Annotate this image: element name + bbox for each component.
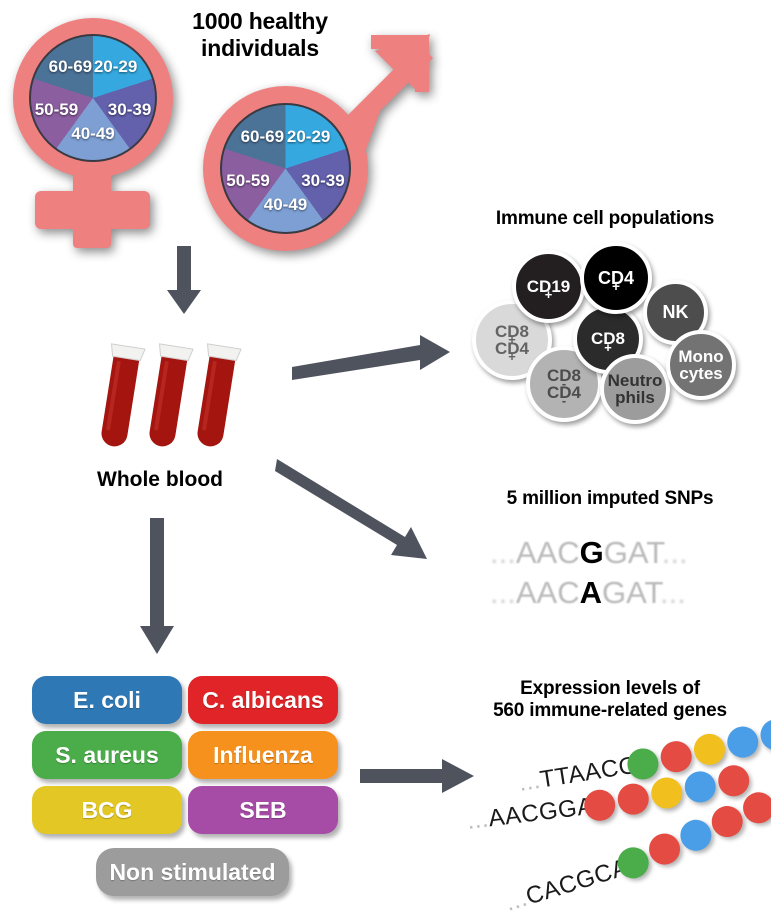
arrow-blood-to-stimulation — [134, 518, 180, 658]
snp-post-1: GAT — [604, 535, 662, 570]
arrow-blood-to-immune — [292, 330, 452, 390]
cell-cd19pos: CD19+ — [512, 250, 585, 323]
cell-label-cd8neg-cd4neg-line1: CD8- — [547, 367, 581, 384]
snp-lead-1: ... — [490, 535, 516, 570]
stimulation-label-e-coli: E. coli — [73, 687, 141, 714]
snp-tail-2: ... — [660, 575, 686, 610]
female-symbol: 20-2930-3940-4950-5960-69 — [10, 18, 185, 248]
stimulation-label-bcg: BCG — [81, 797, 132, 824]
snp-tail-1: ... — [662, 535, 688, 570]
pie-label-20-29: 20-29 — [94, 57, 137, 77]
female-stem-cross — [35, 191, 150, 229]
snp-variant-1: G — [580, 535, 604, 570]
pie-label-60-69: 60-69 — [49, 57, 92, 77]
bead-1-2 — [658, 739, 693, 774]
arrow-stimulation-to-expression — [360, 757, 480, 797]
pie-label-50-59: 50-59 — [226, 171, 269, 191]
whole-blood-tubes — [95, 338, 275, 468]
stimulation-box-e-coli[interactable]: E. coli — [32, 676, 182, 724]
cell-label-cd8pos-cd4pos-line1: CD8+ — [495, 323, 529, 340]
stimulation-label-seb: SEB — [239, 797, 286, 824]
pie-label-20-29: 20-29 — [287, 127, 330, 147]
figure-canvas: 1000 healthy individuals 20-2930-3940-49… — [0, 0, 771, 922]
expression-title-line-1: Expression levels of — [450, 678, 770, 700]
cell-label-cd8neg-cd4neg-line2: CD4- — [547, 384, 581, 401]
snp-sequence-row-1: ...AACGGAT... — [490, 535, 688, 571]
female-age-pie: 20-2930-3940-4950-5960-69 — [29, 34, 157, 162]
stimulation-box-s-aureus[interactable]: S. aureus — [32, 731, 182, 779]
stimulation-box-bcg[interactable]: BCG — [32, 786, 182, 834]
male-symbol: 20-2930-3940-4950-5960-69 — [195, 22, 425, 252]
stimulation-box-c-albicans[interactable]: C. albicans — [188, 676, 338, 724]
snps-title: 5 million imputed SNPs — [450, 488, 770, 510]
stimulation-box-influenza[interactable]: Influenza — [188, 731, 338, 779]
cell-label-cd8pos-cd4pos-line2: CD4+ — [495, 340, 529, 357]
stimulation-box-seb[interactable]: SEB — [188, 786, 338, 834]
pie-label-60-69: 60-69 — [241, 127, 284, 147]
cell-cd4pos: CD4+ — [580, 242, 652, 314]
pie-label-40-49: 40-49 — [71, 124, 114, 144]
cell-monocytes: Mono cytes — [666, 330, 736, 400]
stimulation-label-non-stimulated: Non stimulated — [109, 859, 275, 886]
pie-label-30-39: 30-39 — [301, 171, 344, 191]
cell-label-neutrophils-line2: phils — [608, 389, 663, 406]
arrow-cohort-to-blood — [161, 246, 207, 316]
immune-cell-cluster: CD8+ CD4+ CD19+ CD8- CD4- CD8+ CD4+ Neut… — [460, 238, 760, 423]
cell-label-nk: NK — [663, 303, 689, 321]
cell-neutrophils: Neutro phils — [600, 354, 670, 424]
expression-title: Expression levels of 560 immune-related … — [450, 678, 770, 723]
cell-label-neutrophils-line1: Neutro — [608, 372, 663, 389]
stimulation-label-c-albicans: C. albicans — [202, 687, 323, 714]
arrow-blood-to-snps — [275, 445, 445, 565]
snp-variant-2: A — [580, 575, 602, 610]
pie-label-50-59: 50-59 — [35, 100, 78, 120]
stimulation-box-non-stimulated[interactable]: Non stimulated — [96, 848, 289, 896]
snp-lead-2: ... — [490, 575, 516, 610]
bead-3-2 — [645, 830, 684, 869]
pie-label-30-39: 30-39 — [108, 100, 151, 120]
cell-label-monocytes-line2: cytes — [678, 365, 723, 382]
snp-pre-1: AAC — [516, 535, 580, 570]
whole-blood-label: Whole blood — [60, 468, 260, 492]
stimulation-label-influenza: Influenza — [213, 742, 313, 769]
snp-post-2: GAT — [602, 575, 660, 610]
pie-label-40-49: 40-49 — [264, 195, 307, 215]
expression-title-line-2: 560 immune-related genes — [450, 700, 770, 722]
male-age-pie: 20-2930-3940-4950-5960-69 — [220, 103, 351, 234]
snp-sequence-row-2: ...AACAGAT... — [490, 575, 686, 611]
bead-1-4 — [725, 724, 760, 759]
bead-1-3 — [692, 732, 727, 767]
immune-populations-title: Immune cell populations — [440, 208, 770, 230]
stimulation-label-s-aureus: S. aureus — [55, 742, 159, 769]
snp-pre-2: AAC — [516, 575, 580, 610]
cell-label-monocytes-line1: Mono — [678, 348, 723, 365]
